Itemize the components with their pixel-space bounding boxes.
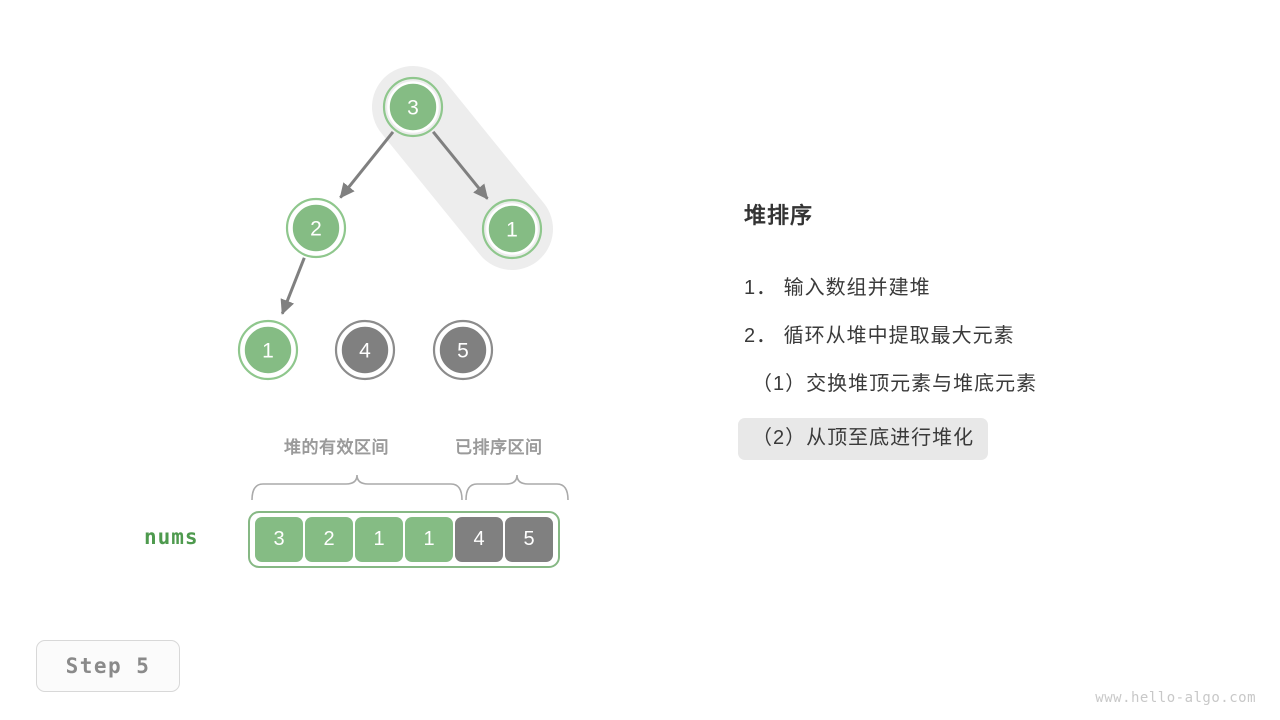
nums-array: 321145 xyxy=(248,511,560,568)
step-item: 1． 输入数组并建堆 xyxy=(744,274,1244,303)
explanation-panel: 堆排序 1． 输入数组并建堆2． 循环从堆中提取最大元素（1）交换堆顶元素与堆底… xyxy=(744,198,1244,479)
array-cell: 5 xyxy=(505,517,553,562)
step-row: （1）交换堆顶元素与堆底元素 xyxy=(744,370,1244,399)
panel-title: 堆排序 xyxy=(744,198,1244,230)
array-cell: 2 xyxy=(305,517,353,562)
array-cell: 1 xyxy=(405,517,453,562)
region-label: 已排序区间 xyxy=(455,433,543,458)
array-cell: 3 xyxy=(255,517,303,562)
region-brace xyxy=(466,475,568,500)
illustration-canvas: 321145 堆的有效区间已排序区间 nums 321145 堆排序 1． 输入… xyxy=(0,0,1280,720)
step-badge: Step 5 xyxy=(36,640,180,692)
footer-url: www.hello-algo.com xyxy=(1095,690,1256,706)
step-item: （1）交换堆顶元素与堆底元素 xyxy=(744,370,1244,399)
step-row: 1． 输入数组并建堆 xyxy=(744,274,1244,303)
step-list: 1． 输入数组并建堆2． 循环从堆中提取最大元素（1）交换堆顶元素与堆底元素（2… xyxy=(744,274,1244,479)
step-row: 2． 循环从堆中提取最大元素 xyxy=(744,322,1244,351)
region-brace xyxy=(252,475,462,500)
step-item-highlighted: （2）从顶至底进行堆化 xyxy=(738,418,988,460)
array-cell: 1 xyxy=(355,517,403,562)
step-item: 2． 循环从堆中提取最大元素 xyxy=(744,322,1244,351)
region-braces xyxy=(0,0,660,600)
step-row: （2）从顶至底进行堆化 xyxy=(744,418,1244,479)
array-variable-label: nums xyxy=(144,525,199,549)
region-label: 堆的有效区间 xyxy=(284,433,389,458)
array-cell: 4 xyxy=(455,517,503,562)
